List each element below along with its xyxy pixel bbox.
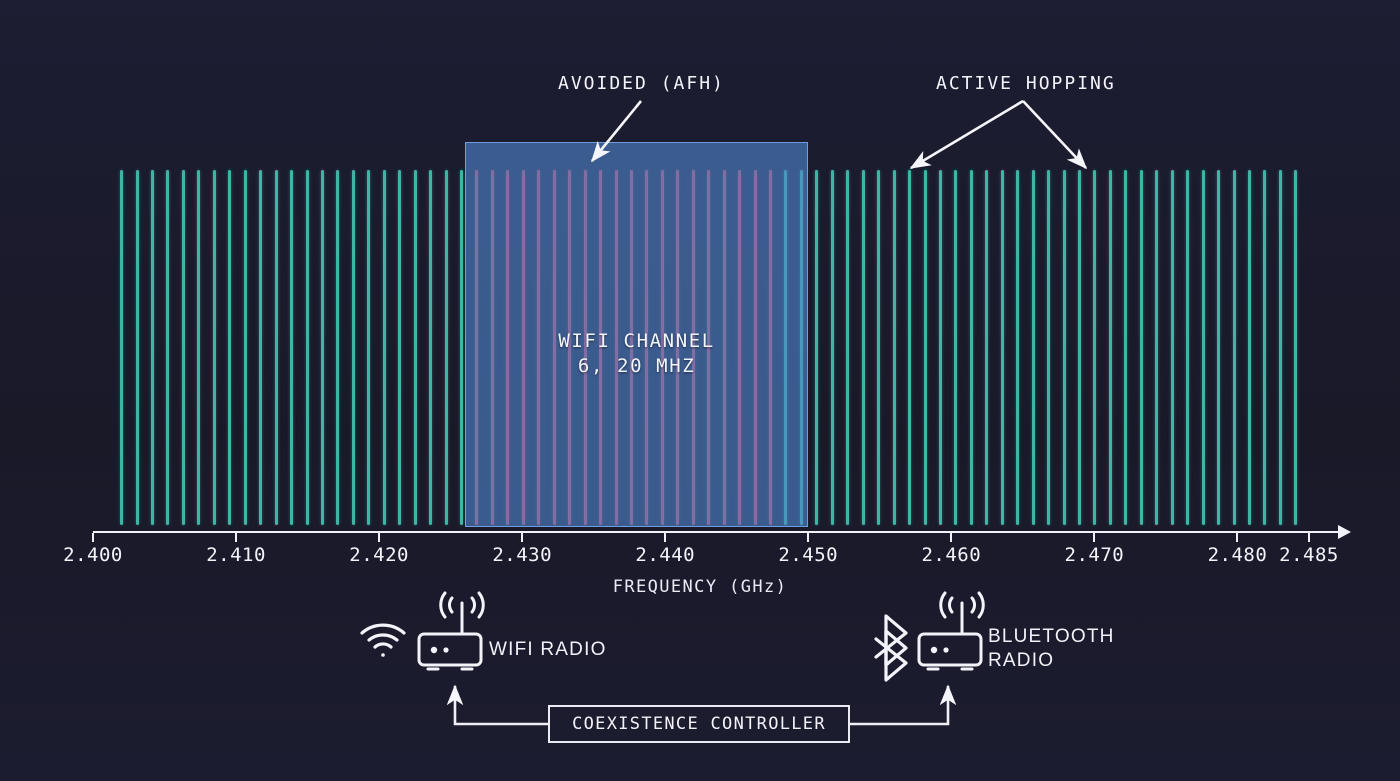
channel-bar-active xyxy=(924,170,927,525)
channel-bar-active xyxy=(1093,170,1096,525)
channel-bar-active xyxy=(151,170,154,525)
wifi-channel-band-label: WIFI CHANNEL 6, 20 MHZ xyxy=(466,329,807,379)
channel-bar-active xyxy=(1109,170,1112,525)
axis-tick-label: 2.410 xyxy=(206,544,266,566)
wifi-signal-icon xyxy=(362,625,404,657)
axis-tick-label: 2.460 xyxy=(921,544,981,566)
axis-tick-label: 2.420 xyxy=(349,544,409,566)
channel-bar-active xyxy=(306,170,309,525)
channel-bar-active xyxy=(1279,170,1282,525)
axis-tick xyxy=(235,533,237,542)
bluetooth-radio-label-line1: BLUETOOTH xyxy=(988,625,1115,649)
axis-tick-label: 2.480 xyxy=(1208,544,1268,566)
channel-bar-active xyxy=(166,170,169,525)
bluetooth-radio-label-line2: RADIO xyxy=(988,649,1115,673)
channel-bar-active xyxy=(213,170,216,525)
diagram-canvas: WIFI CHANNEL 6, 20 MHZ 2.4002.4102.4202.… xyxy=(0,0,1400,781)
channel-bar-active xyxy=(1155,170,1158,525)
channel-bar-active xyxy=(893,170,896,525)
axis-tick xyxy=(664,533,666,542)
axis-tick xyxy=(521,533,523,542)
channel-bar-active xyxy=(445,170,448,525)
channel-bar-active xyxy=(414,170,417,525)
channel-bar-active xyxy=(1016,170,1019,525)
channel-bar-active xyxy=(383,170,386,525)
connector-controller-to-wifi xyxy=(455,686,548,724)
channel-bar-active xyxy=(228,170,231,525)
channel-bar-active xyxy=(846,170,849,525)
channel-bar-active xyxy=(1217,170,1220,525)
axis-tick xyxy=(1093,533,1095,542)
channel-bar-active xyxy=(970,170,973,525)
channel-bar-active xyxy=(182,170,185,525)
channel-bar-active xyxy=(1171,170,1174,525)
coexistence-controller-box[interactable]: COEXISTENCE CONTROLLER xyxy=(548,705,850,743)
channel-bar-active xyxy=(1124,170,1127,525)
wifi-band-label-line1: WIFI CHANNEL xyxy=(466,329,807,354)
connector-controller-to-bluetooth xyxy=(850,686,948,724)
channel-bar-active xyxy=(1233,170,1236,525)
channel-bar-active xyxy=(908,170,911,525)
axis-tick-label: 2.440 xyxy=(635,544,695,566)
channel-bar-active xyxy=(460,170,463,525)
axis-tick xyxy=(1308,533,1310,542)
channel-bar-active xyxy=(1047,170,1050,525)
wifi-channel-band: WIFI CHANNEL 6, 20 MHZ xyxy=(465,142,808,527)
channel-bar-active xyxy=(1202,170,1205,525)
channel-bar-active xyxy=(259,170,262,525)
channel-bar-active xyxy=(275,170,278,525)
channel-bar-active xyxy=(862,170,865,525)
wifi-radio-label: WIFI RADIO xyxy=(489,638,607,662)
channel-bar-active xyxy=(939,170,942,525)
channel-bar-active xyxy=(877,170,880,525)
channel-bar-active xyxy=(398,170,401,525)
channel-bar-active xyxy=(831,170,834,525)
axis-tick-label: 2.485 xyxy=(1279,544,1339,566)
channel-bar-active xyxy=(1248,170,1251,525)
channel-bar-active xyxy=(985,170,988,525)
channel-bar-active xyxy=(352,170,355,525)
axis-tick-label: 2.400 xyxy=(63,544,123,566)
channel-bar-active xyxy=(1078,170,1081,525)
coexistence-controller-label: COEXISTENCE CONTROLLER xyxy=(572,714,826,734)
channel-bar-active xyxy=(954,170,957,525)
channel-bar-active xyxy=(367,170,370,525)
bluetooth-radio-label: BLUETOOTH RADIO xyxy=(988,625,1115,673)
annotation-active-hopping: ACTIVE HOPPING xyxy=(936,73,1116,94)
channel-bar-active xyxy=(1186,170,1189,525)
axis-tick xyxy=(92,533,94,542)
frequency-axis-line xyxy=(93,531,1340,533)
axis-tick-label: 2.470 xyxy=(1065,544,1125,566)
channel-bar-active xyxy=(197,170,200,525)
axis-title: FREQUENCY (GHz) xyxy=(0,577,1400,597)
channel-bar-active xyxy=(1294,170,1297,525)
channel-bar-active xyxy=(336,170,339,525)
axis-arrow-icon xyxy=(1338,525,1351,539)
router-icon-bluetooth xyxy=(919,593,983,669)
wifi-band-label-line2: 6, 20 MHZ xyxy=(466,354,807,379)
channel-bar-active xyxy=(1063,170,1066,525)
bluetooth-icon xyxy=(876,616,906,680)
channel-bar-active xyxy=(136,170,139,525)
channel-bar-active xyxy=(1263,170,1266,525)
annotation-avoided: AVOIDED (AFH) xyxy=(558,73,725,94)
axis-tick xyxy=(807,533,809,542)
channel-bar-active xyxy=(429,170,432,525)
channel-bar-active xyxy=(120,170,123,525)
axis-tick-label: 2.450 xyxy=(778,544,838,566)
channel-bar-active xyxy=(1001,170,1004,525)
axis-tick-label: 2.430 xyxy=(492,544,552,566)
axis-tick xyxy=(378,533,380,542)
axis-tick xyxy=(1236,533,1238,542)
channel-bar-active xyxy=(1032,170,1035,525)
channel-bar-active xyxy=(290,170,293,525)
axis-tick xyxy=(950,533,952,542)
channel-bar-active xyxy=(1140,170,1143,525)
channel-bar-active xyxy=(815,170,818,525)
channel-bar-active xyxy=(244,170,247,525)
router-icon-wifi xyxy=(419,593,483,669)
channel-bar-active xyxy=(321,170,324,525)
